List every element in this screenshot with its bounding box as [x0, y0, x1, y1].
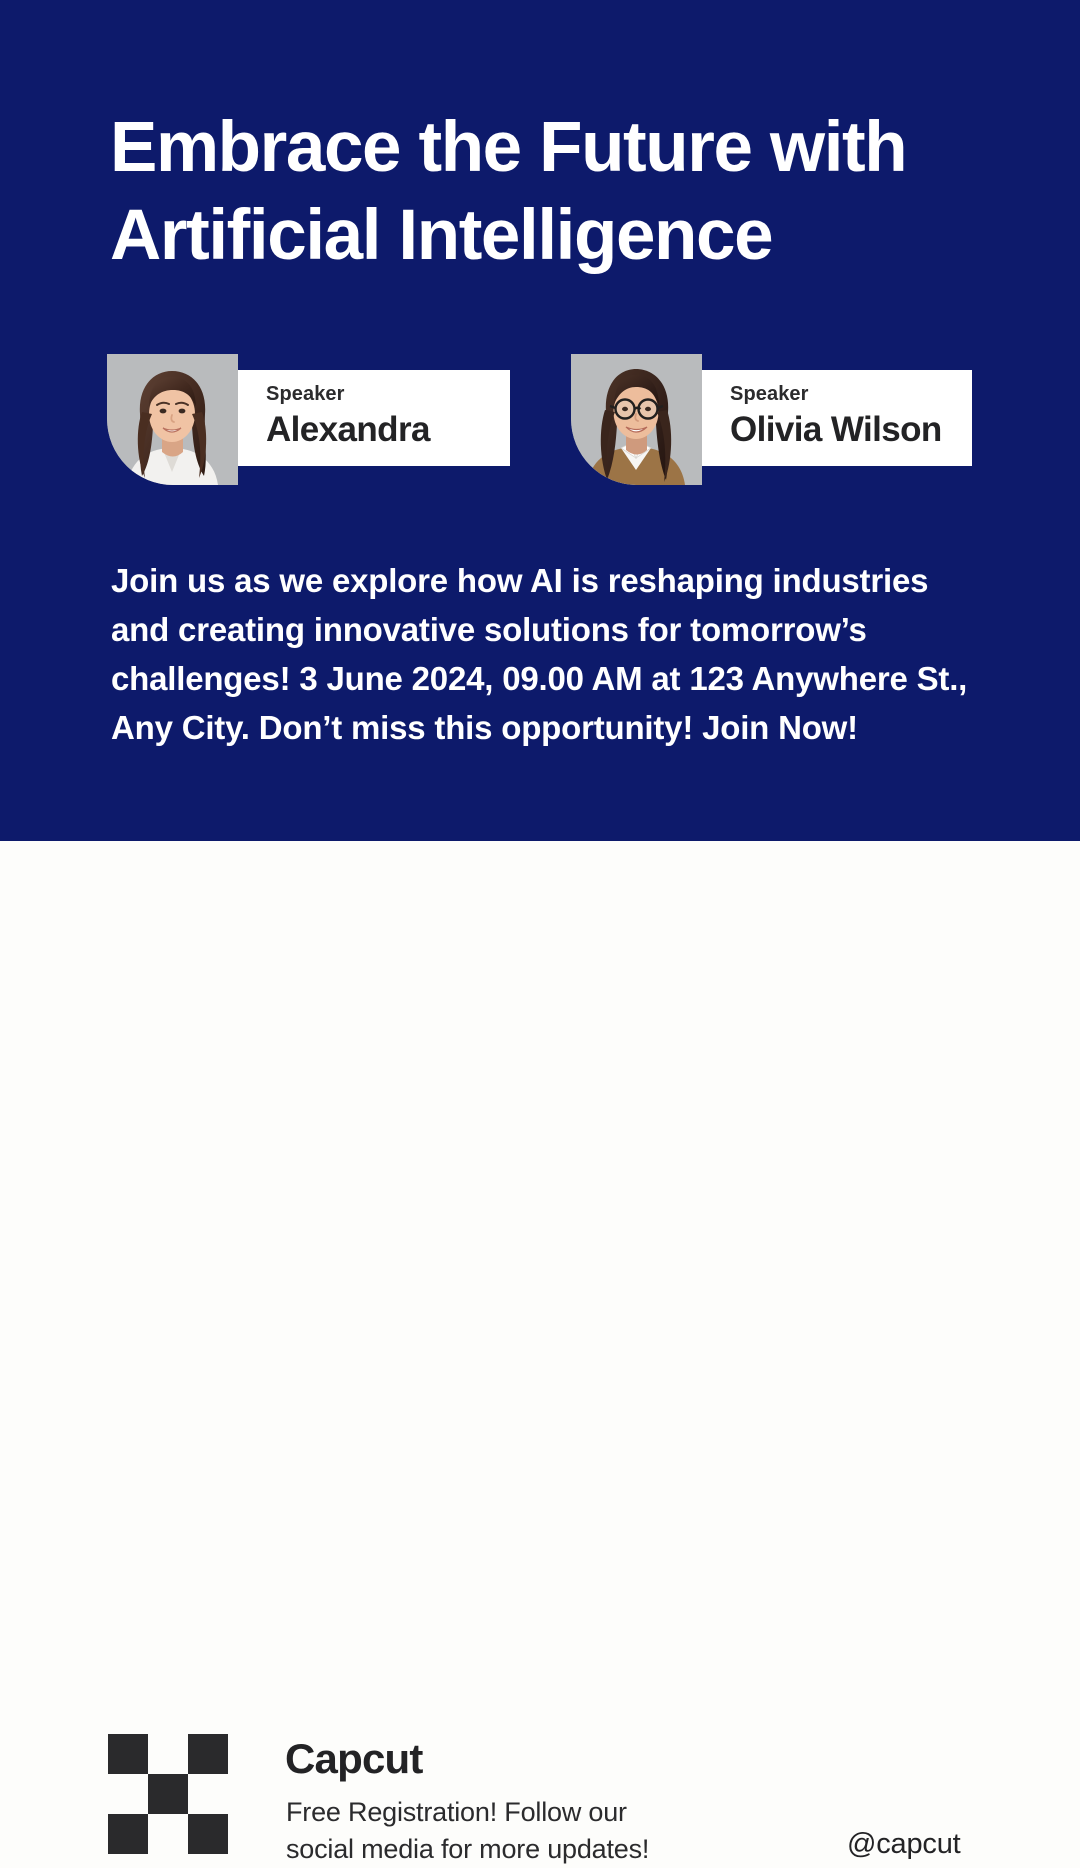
footer-panel: Capcut Free Registration! Follow our soc…: [0, 841, 1080, 1080]
event-description: Join us as we explore how AI is reshapin…: [111, 556, 991, 752]
speaker-role-label: Speaker: [730, 382, 972, 406]
speaker-namecard: Speaker Olivia Wilson: [702, 370, 972, 466]
logo-cell-top-right: [188, 1734, 228, 1774]
speaker-namecard: Speaker Alexandra: [238, 370, 510, 466]
speaker-card[interactable]: Speaker Olivia Wilson: [571, 354, 973, 486]
speaker-role-label: Speaker: [266, 382, 510, 406]
logo-cell-bottom-left: [108, 1814, 148, 1854]
social-handle[interactable]: @capcut: [847, 1826, 960, 1862]
logo-cell-top-left: [108, 1734, 148, 1774]
avatar: [571, 354, 702, 485]
capcut-checker-logo-icon: [108, 1734, 228, 1854]
speaker-list: Speaker Alexandra: [107, 354, 973, 486]
logo-cell-center: [148, 1774, 188, 1814]
speaker-name: Alexandra: [266, 407, 510, 453]
speaker-card[interactable]: Speaker Alexandra: [107, 354, 511, 486]
footer-note: Free Registration! Follow our social med…: [286, 1794, 706, 1868]
hero-panel: Embrace the Future with Artificial Intel…: [0, 0, 1080, 841]
page-title: Embrace the Future with Artificial Intel…: [110, 104, 1010, 280]
speaker-name: Olivia Wilson: [730, 407, 972, 453]
logo-cell-bottom-right: [188, 1814, 228, 1854]
poster-canvas: Embrace the Future with Artificial Intel…: [0, 0, 1080, 1080]
avatar: [107, 354, 238, 485]
brand-name: Capcut: [285, 1734, 423, 1784]
